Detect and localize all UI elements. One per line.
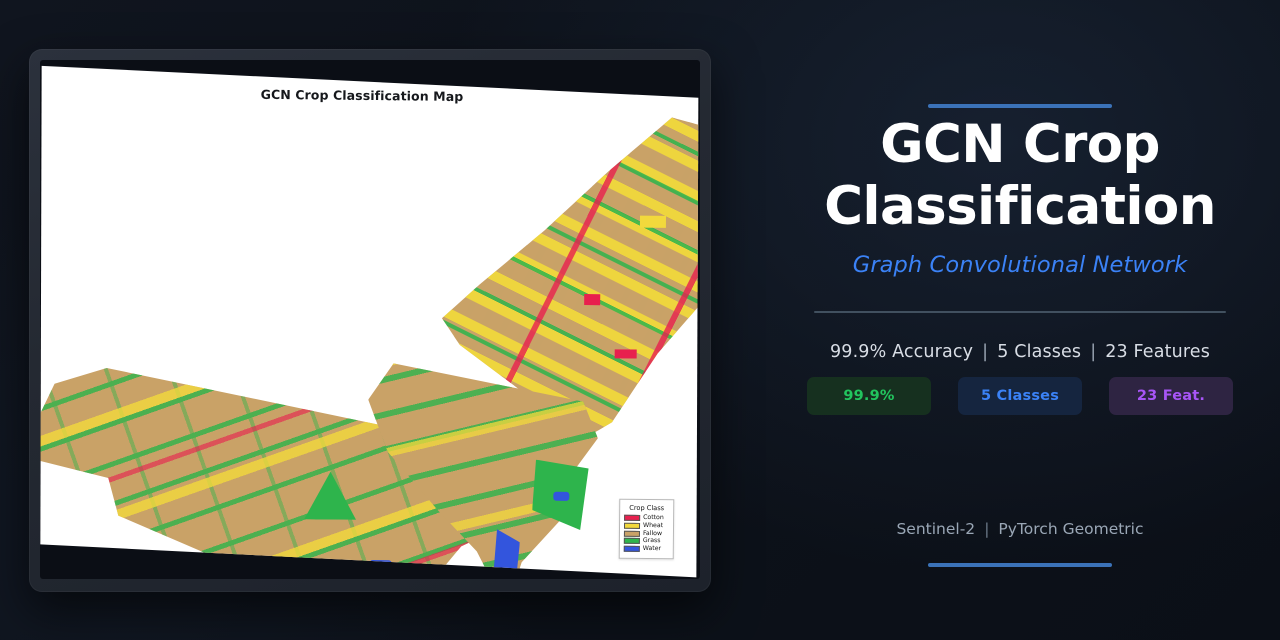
status-badge-features[interactable]: 23 Feat. [1109,377,1233,415]
footer-separator: | [984,520,989,538]
water-body-tiny [553,492,569,501]
footer-data-source: Sentinel-2 [896,520,975,538]
map-legend: Crop Class Cotton Wheat Fallow Grass [619,499,675,560]
title-accent-bar [928,104,1112,108]
legend-title: Crop Class [624,504,669,512]
wheat-blob-a [640,216,666,228]
water-body-small [370,560,392,572]
stat-separator-1: | [982,342,988,362]
cotton-blob-a [584,294,600,305]
panel-divider [814,311,1226,313]
map-plot-canvas: GCN Crop Classification Map Crop Class C… [40,60,700,579]
status-badge-accuracy[interactable]: 99.9% [807,377,931,415]
legend-item-fallow: Fallow [624,530,669,537]
footer-framework: PyTorch Geometric [998,520,1143,538]
legend-item-water: Water [624,546,669,553]
legend-swatch-cotton [624,515,640,521]
footer-text: Sentinel-2 | PyTorch Geometric [896,520,1143,538]
legend-label-wheat: Wheat [643,523,663,529]
legend-label-cotton: Cotton [643,515,664,521]
status-badge-classes[interactable]: 5 Classes [958,377,1082,415]
legend-swatch-wheat [624,523,640,529]
info-panel: GCN Crop Classification Graph Convolutio… [760,0,1280,640]
page-subtitle: Graph Convolutional Network [853,252,1187,278]
page-title-line-2: Classification [785,176,1255,238]
footer-accent-bar [928,563,1112,567]
stat-separator-2: | [1090,342,1096,362]
monitor-screen: GCN Crop Classification Map Crop Class C… [40,60,700,579]
legend-label-water: Water [643,546,661,552]
page-title-line-1: GCN Crop [785,114,1255,176]
stat-features-text: 23 Features [1105,342,1210,362]
cotton-blob-b [615,349,637,358]
legend-item-grass: Grass [624,538,669,545]
crop-classification-raster [40,60,700,579]
badge-row: 99.9% 5 Classes 23 Feat. [807,377,1233,415]
stat-accuracy-text: 99.9% Accuracy [830,342,973,362]
monitor-frame: GCN Crop Classification Map Crop Class C… [29,49,711,592]
page-title: GCN Crop Classification [785,114,1255,238]
legend-swatch-grass [624,538,640,544]
stats-summary: 99.9% Accuracy | 5 Classes | 23 Features [830,342,1210,362]
legend-item-cotton: Cotton [624,515,669,522]
legend-label-grass: Grass [643,538,661,544]
legend-label-fallow: Fallow [643,531,662,537]
legend-item-wheat: Wheat [624,523,669,530]
legend-swatch-water [624,546,640,552]
legend-swatch-fallow [624,530,640,536]
stat-classes-text: 5 Classes [997,342,1081,362]
